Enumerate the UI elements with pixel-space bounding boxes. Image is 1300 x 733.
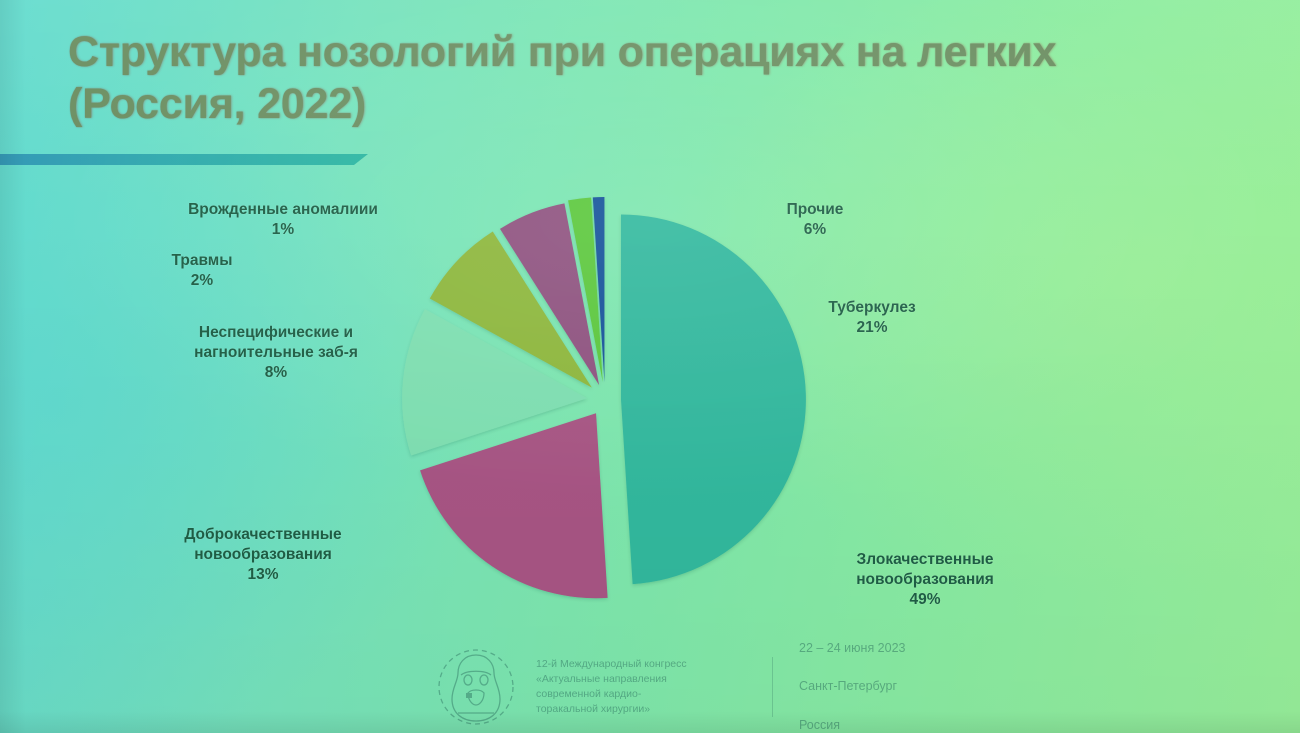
label-nonspecific-suppurative-name: Неспецифические и нагноительные заб-я (194, 324, 358, 361)
matryoshka-logo-icon (430, 645, 522, 729)
label-malignant-neoplasms-name: Злокачественные новообразования (856, 551, 994, 588)
footer-dates: 22 – 24 июня 2023 (799, 639, 906, 658)
label-tuberculosis-name: Туберкулез (828, 299, 915, 316)
pie-slice (621, 215, 806, 585)
label-benign-neoplasms-name: Доброкачественные новообразования (184, 526, 341, 563)
footer-event-details: 22 – 24 июня 2023 Санкт-Петербург Россия (787, 619, 906, 733)
label-other: Прочие 6% (760, 180, 870, 261)
label-trauma: Травмы 2% (160, 231, 244, 312)
label-benign-neoplasms: Доброкачественные новообразования 13% (155, 505, 371, 606)
label-malignant-neoplasms-pct: 49% (828, 590, 1022, 610)
footer-divider (772, 657, 773, 717)
presentation-slide: Структура нозологий при операциях на лег… (0, 0, 1300, 733)
footer-country: Россия (799, 716, 906, 733)
label-tuberculosis-pct: 21% (812, 318, 932, 338)
label-other-pct: 6% (760, 220, 870, 240)
label-nonspecific-suppurative-pct: 8% (168, 363, 384, 383)
footer-congress-title: 12-й Международный конгресс «Актуальные … (536, 657, 758, 718)
pie-slices (402, 197, 806, 598)
label-trauma-pct: 2% (160, 271, 244, 291)
slide-footer: 12-й Международный конгресс «Актуальные … (430, 644, 990, 730)
title-accent-rule (0, 154, 368, 165)
label-nonspecific-suppurative: Неспецифические и нагноительные заб-я 8% (168, 303, 384, 404)
slide-title-line-2: (Россия, 2022) (68, 78, 1258, 130)
footer-city: Санкт-Петербург (799, 677, 906, 696)
label-malignant-neoplasms: Злокачественные новообразования 49% (828, 530, 1022, 631)
label-tuberculosis: Туберкулез 21% (812, 278, 932, 359)
slide-title-line-1: Структура нозологий при операциях на лег… (68, 26, 1258, 78)
label-trauma-name: Травмы (172, 252, 233, 269)
label-other-name: Прочие (787, 201, 844, 218)
label-congenital-anomalies-name: Врожденные аномалиии (188, 201, 378, 218)
label-benign-neoplasms-pct: 13% (155, 565, 371, 585)
slide-title: Структура нозологий при операциях на лег… (68, 26, 1258, 131)
